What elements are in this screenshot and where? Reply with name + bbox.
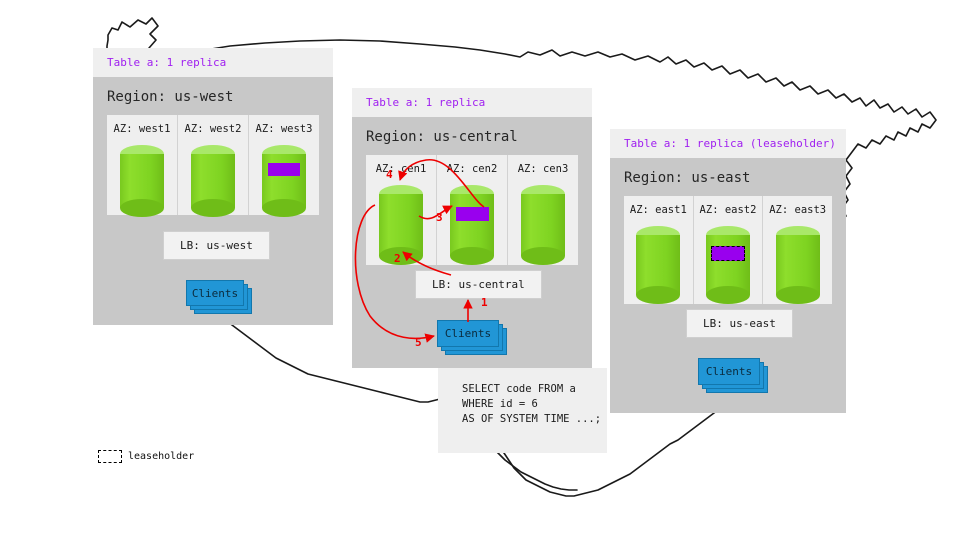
az-row-us-central: AZ: cen1 AZ: cen2 AZ: cen3: [366, 155, 578, 265]
node-cylinder-west1[interactable]: [120, 145, 164, 217]
clients-stack-us-central[interactable]: Clients: [437, 320, 505, 352]
replica-block-east2-leaseholder[interactable]: [711, 246, 745, 261]
az-cell-east3[interactable]: AZ: east3: [763, 196, 832, 304]
az-cell-east2[interactable]: AZ: east2: [694, 196, 764, 304]
region-panel-us-east: Table a: 1 replica (leaseholder) Region:…: [610, 129, 846, 413]
cylinder-bottom: [120, 199, 164, 217]
az-cell-east1[interactable]: AZ: east1: [624, 196, 694, 304]
cylinder-bottom: [262, 199, 306, 217]
clients-card-front[interactable]: Clients: [186, 280, 244, 306]
cylinder-bottom: [706, 286, 750, 304]
clients-card-front[interactable]: Clients: [437, 320, 499, 347]
legend-label-leaseholder: leaseholder: [128, 451, 194, 462]
region-header-us-west: Table a: 1 replica: [93, 48, 333, 77]
az-label-west3: AZ: west3: [249, 123, 319, 135]
az-label-east1: AZ: east1: [624, 204, 693, 216]
clients-card-front[interactable]: Clients: [698, 358, 760, 385]
cylinder-bottom: [776, 286, 820, 304]
az-cell-west2[interactable]: AZ: west2: [178, 115, 249, 215]
az-cell-west1[interactable]: AZ: west1: [107, 115, 178, 215]
load-balancer-us-west[interactable]: LB: us-west: [163, 231, 270, 260]
node-cylinder-east1[interactable]: [636, 226, 680, 304]
legend: leaseholder: [98, 450, 194, 463]
clients-stack-us-east[interactable]: Clients: [698, 358, 766, 390]
node-cylinder-east3[interactable]: [776, 226, 820, 304]
node-cylinder-west2[interactable]: [191, 145, 235, 217]
az-cell-cen3[interactable]: AZ: cen3: [508, 155, 578, 265]
region-title-us-central: Region: us-central: [352, 117, 592, 155]
cylinder-bottom: [450, 247, 494, 265]
replica-block-west3[interactable]: [268, 163, 300, 176]
cylinder-bottom: [636, 286, 680, 304]
az-row-us-west: AZ: west1 AZ: west2 AZ: west3: [107, 115, 319, 215]
replica-block-cen2[interactable]: [456, 207, 489, 221]
arrow-label-3: 3: [436, 211, 443, 224]
cylinder-bottom: [379, 247, 423, 265]
region-title-us-west: Region: us-west: [93, 77, 333, 115]
az-label-east3: AZ: east3: [763, 204, 832, 216]
leaseholder-swatch-icon: [98, 450, 122, 463]
clients-stack-us-west[interactable]: Clients: [186, 280, 248, 310]
cylinder-bottom: [191, 199, 235, 217]
node-cylinder-cen2[interactable]: [450, 185, 494, 265]
region-header-us-east: Table a: 1 replica (leaseholder): [610, 129, 846, 158]
az-label-west1: AZ: west1: [107, 123, 177, 135]
arrow-label-2: 2: [394, 252, 401, 265]
az-cell-west3[interactable]: AZ: west3: [249, 115, 319, 215]
az-cell-cen2[interactable]: AZ: cen2: [437, 155, 508, 265]
cylinder-bottom: [521, 247, 565, 265]
arrow-label-4: 4: [386, 168, 393, 181]
sql-query-box: SELECT code FROM a WHERE id = 6 AS OF SY…: [438, 368, 607, 453]
diagram-canvas: Table a: 1 replica Region: us-west AZ: w…: [0, 0, 960, 540]
node-cylinder-cen1[interactable]: [379, 185, 423, 265]
az-label-cen2: AZ: cen2: [437, 163, 507, 175]
node-cylinder-cen3[interactable]: [521, 185, 565, 265]
node-cylinder-east2[interactable]: [706, 226, 750, 304]
region-panel-us-central: Table a: 1 replica Region: us-central AZ…: [352, 88, 592, 368]
az-label-cen3: AZ: cen3: [508, 163, 578, 175]
az-cell-cen1[interactable]: AZ: cen1: [366, 155, 437, 265]
region-title-us-east: Region: us-east: [610, 158, 846, 196]
region-panel-us-west: Table a: 1 replica Region: us-west AZ: w…: [93, 48, 333, 325]
arrow-label-1: 1: [481, 296, 488, 309]
az-row-us-east: AZ: east1 AZ: east2 AZ: east3: [624, 196, 832, 304]
region-header-us-central: Table a: 1 replica: [352, 88, 592, 117]
az-label-east2: AZ: east2: [694, 204, 763, 216]
load-balancer-us-east[interactable]: LB: us-east: [686, 309, 793, 338]
arrow-label-5: 5: [415, 336, 422, 349]
node-cylinder-west3[interactable]: [262, 145, 306, 217]
az-label-west2: AZ: west2: [178, 123, 248, 135]
az-label-cen1: AZ: cen1: [366, 163, 436, 175]
load-balancer-us-central[interactable]: LB: us-central: [415, 270, 542, 299]
